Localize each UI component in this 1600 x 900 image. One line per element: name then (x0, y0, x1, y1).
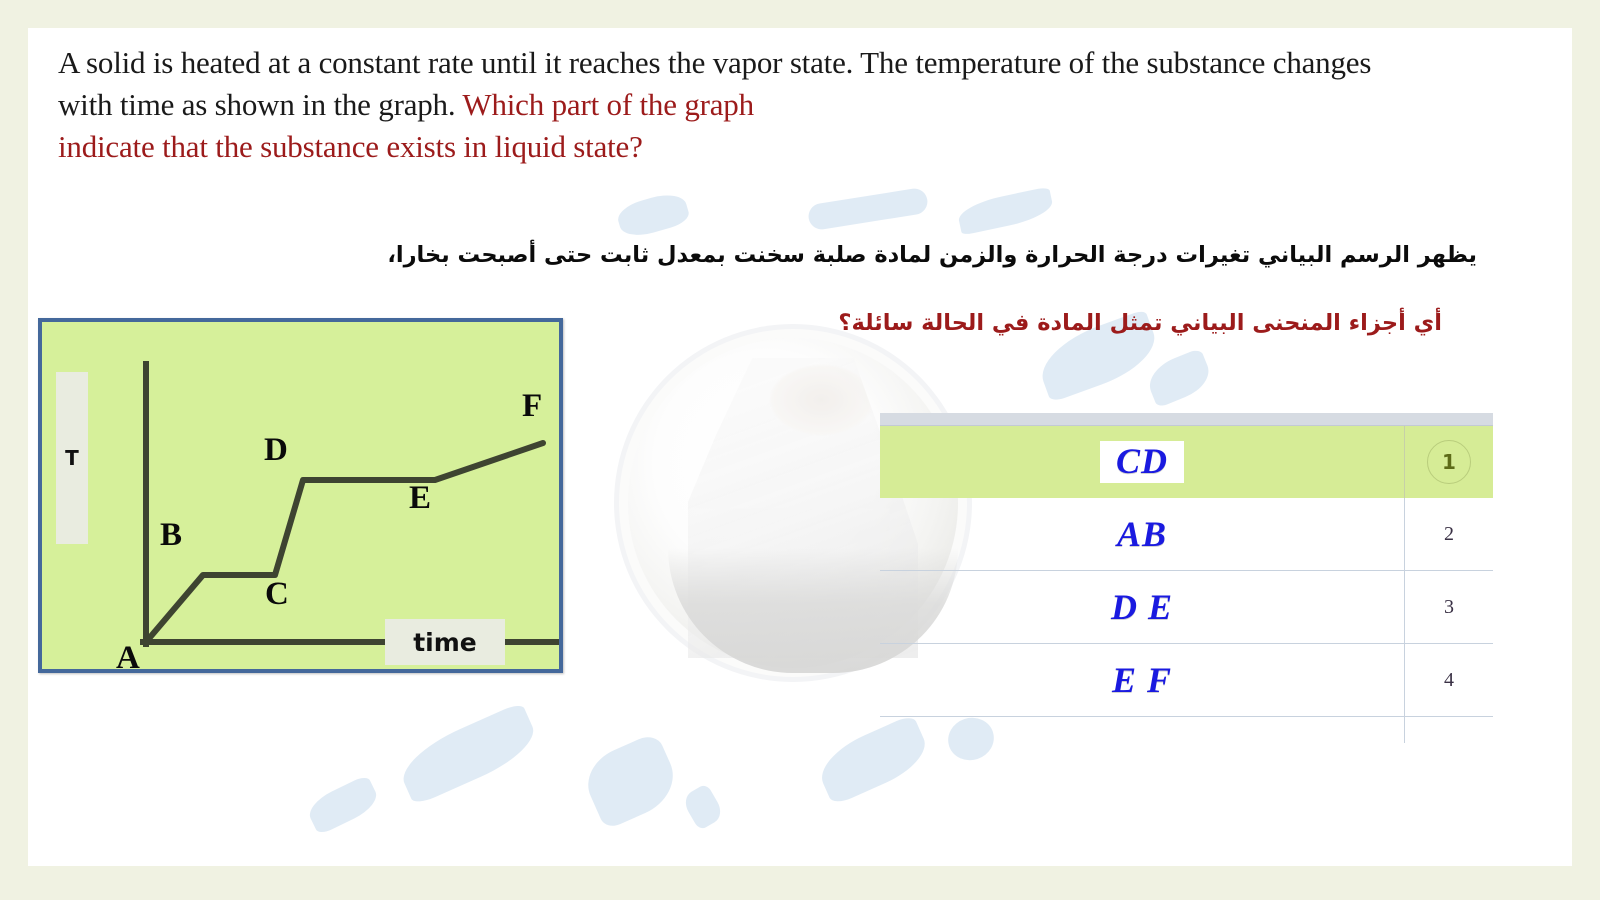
watermark-shape (304, 774, 382, 835)
answer-choice-cell[interactable]: CD (880, 426, 1404, 498)
graph-plot-area: T time A B C D E F (42, 322, 559, 669)
watermark-shape (615, 189, 692, 241)
answer-choice-cell[interactable]: D E (880, 571, 1404, 643)
graph-point-label-c: C (265, 578, 289, 611)
answer-choice-text: CD (1100, 441, 1184, 483)
answer-row[interactable]: AB 2 (880, 498, 1493, 570)
answer-number-cell[interactable]: 2 (1404, 498, 1493, 570)
graph-point-label-d: D (264, 434, 288, 467)
page-content-area: A solid is heated at a constant rate unt… (28, 28, 1572, 866)
answer-table-footer (880, 716, 1493, 743)
answer-number-cell[interactable]: 3 (1404, 571, 1493, 643)
question-line-2-highlight: Which part of the graph (462, 87, 754, 122)
answer-number-cell[interactable]: 1 (1404, 426, 1493, 498)
answer-table-header-bar (880, 413, 1493, 426)
answer-number: 3 (1444, 596, 1454, 619)
watermark-shape (577, 732, 684, 831)
answer-choice-text: AB (1117, 513, 1167, 555)
answer-row-selected[interactable]: CD 1 (880, 426, 1493, 498)
graph-point-label-a: A (116, 642, 140, 669)
y-axis-label: T (56, 372, 88, 544)
graph-svg (42, 322, 559, 669)
watermark-shape (393, 702, 542, 806)
answer-table-footer-left (880, 716, 1404, 743)
graph-point-label-f: F (522, 390, 542, 423)
answer-choice-cell[interactable]: AB (880, 498, 1404, 570)
x-axis-label: time (385, 619, 505, 665)
answer-row[interactable]: D E 3 (880, 570, 1493, 643)
question-line-1: A solid is heated at a constant rate unt… (58, 45, 1139, 80)
question-text-english: A solid is heated at a constant rate unt… (58, 42, 1418, 168)
answer-number-cell[interactable]: 4 (1404, 644, 1493, 716)
heating-curve-polyline (146, 443, 543, 642)
answer-number: 4 (1444, 669, 1454, 692)
answer-options-table: CD 1 AB 2 D E 3 E F (880, 413, 1493, 743)
question-line-3-highlight: indicate that the substance exists in li… (58, 129, 643, 164)
answer-choice-text: E F (1112, 659, 1172, 701)
watermark-shape (956, 186, 1055, 235)
answer-number-badge: 1 (1427, 440, 1471, 484)
answer-choice-text: D E (1111, 586, 1173, 628)
watermark-shape (807, 187, 930, 231)
graph-point-label-b: B (160, 519, 182, 552)
watermark-shape (681, 783, 726, 831)
answer-number: 2 (1444, 523, 1454, 546)
answer-table-footer-right (1404, 716, 1493, 743)
watermark-shape (1143, 348, 1215, 408)
question-text-arabic-question: أي أجزاء المنحنى البياني تمثل المادة في … (838, 310, 1442, 336)
heating-curve-graph: T time A B C D E F (38, 318, 563, 673)
answer-row[interactable]: E F 4 (880, 643, 1493, 716)
question-text-arabic-statement: يظهر الرسم البياني تغيرات درجة الحرارة و… (387, 242, 1477, 268)
graph-point-label-e: E (409, 482, 431, 515)
answer-choice-cell[interactable]: E F (880, 644, 1404, 716)
